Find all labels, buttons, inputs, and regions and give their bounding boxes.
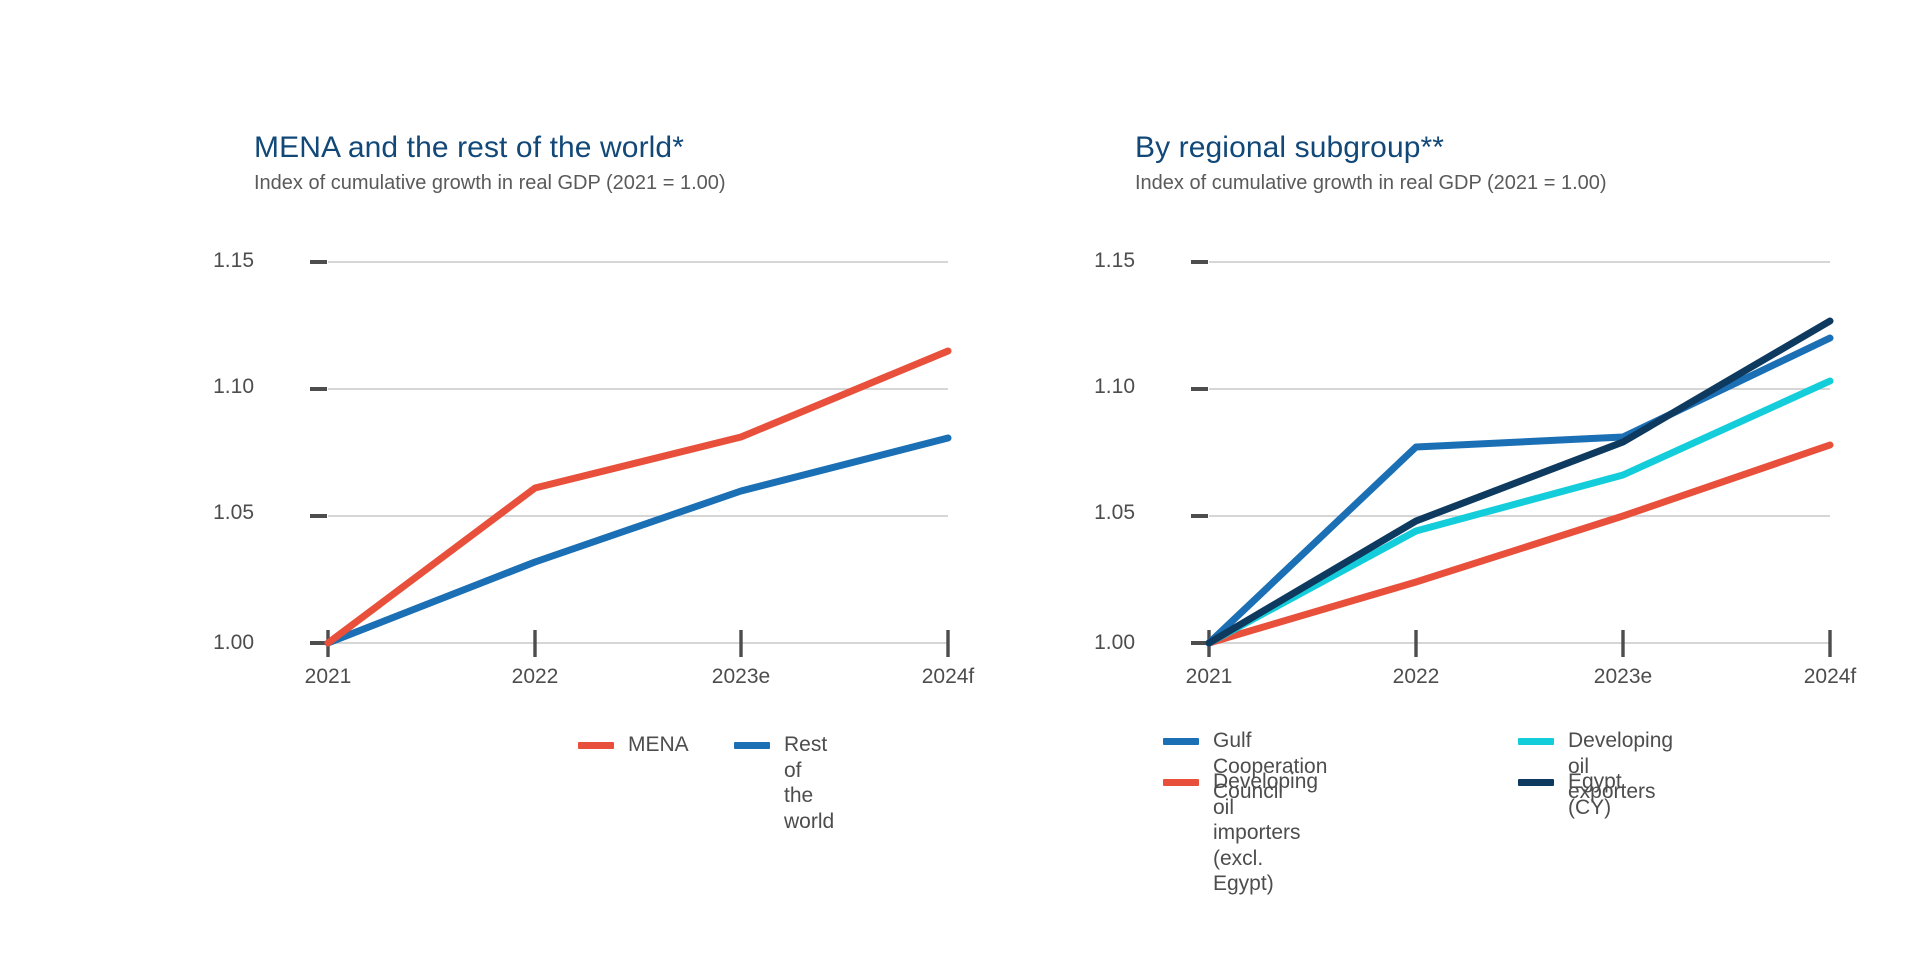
- legend-swatch-developing-oil-importers: [1163, 779, 1199, 786]
- chart-board: MENA and the rest of the world* Index of…: [0, 0, 1921, 974]
- gridlines-left: [328, 262, 948, 643]
- legend-swatch-egypt: [1518, 779, 1554, 786]
- legend-label-egypt: Egypt (CY): [1568, 769, 1622, 820]
- plot-area-right: [880, 0, 1921, 700]
- legend-swatch-developing-oil-exporters: [1518, 738, 1554, 745]
- x-tick-label-2021-right: 2021: [1186, 665, 1233, 689]
- legend-item-mena[interactable]: MENA: [578, 732, 689, 758]
- panel-regional-subgroup: By regional subgroup** Index of cumulati…: [880, 0, 1921, 974]
- legend-swatch-rest-of-the-world: [734, 742, 770, 749]
- x-tick-label-2023e-right: 2023e: [1594, 665, 1652, 689]
- legend-swatch-mena: [578, 742, 614, 749]
- legend-label-rest-of-the-world: Rest of the world: [784, 732, 834, 834]
- y-ticks-right: [1191, 262, 1208, 643]
- panel-mena-vs-world: MENA and the rest of the world* Index of…: [0, 0, 960, 974]
- y-ticks-left: [310, 262, 327, 643]
- series-line-rest-of-the-world: [328, 438, 948, 643]
- series-line-developing-oil-exporters: [1209, 381, 1830, 643]
- series-line-developing-oil-importers: [1209, 445, 1830, 643]
- series-line-gulf-cooperation-council: [1209, 338, 1830, 643]
- x-tick-label-2022-left: 2022: [512, 665, 559, 689]
- legend-item-egypt[interactable]: Egypt (CY): [1518, 769, 1622, 820]
- x-tick-label-2023e-left: 2023e: [712, 665, 770, 689]
- x-tick-label-2021-left: 2021: [305, 665, 352, 689]
- legend-item-developing-oil-importers[interactable]: Developing oil importers (excl. Egypt): [1163, 769, 1318, 897]
- legend-label-mena: MENA: [628, 732, 689, 758]
- x-tick-label-2024f-right: 2024f: [1804, 665, 1857, 689]
- x-tick-label-2022-right: 2022: [1393, 665, 1440, 689]
- legend-swatch-gulf-cooperation-council: [1163, 738, 1199, 745]
- legend-label-developing-oil-importers: Developing oil importers (excl. Egypt): [1213, 769, 1318, 897]
- series-line-mena: [328, 351, 948, 643]
- legend-item-rest-of-the-world[interactable]: Rest of the world: [734, 732, 834, 834]
- plot-area-left: [0, 0, 960, 700]
